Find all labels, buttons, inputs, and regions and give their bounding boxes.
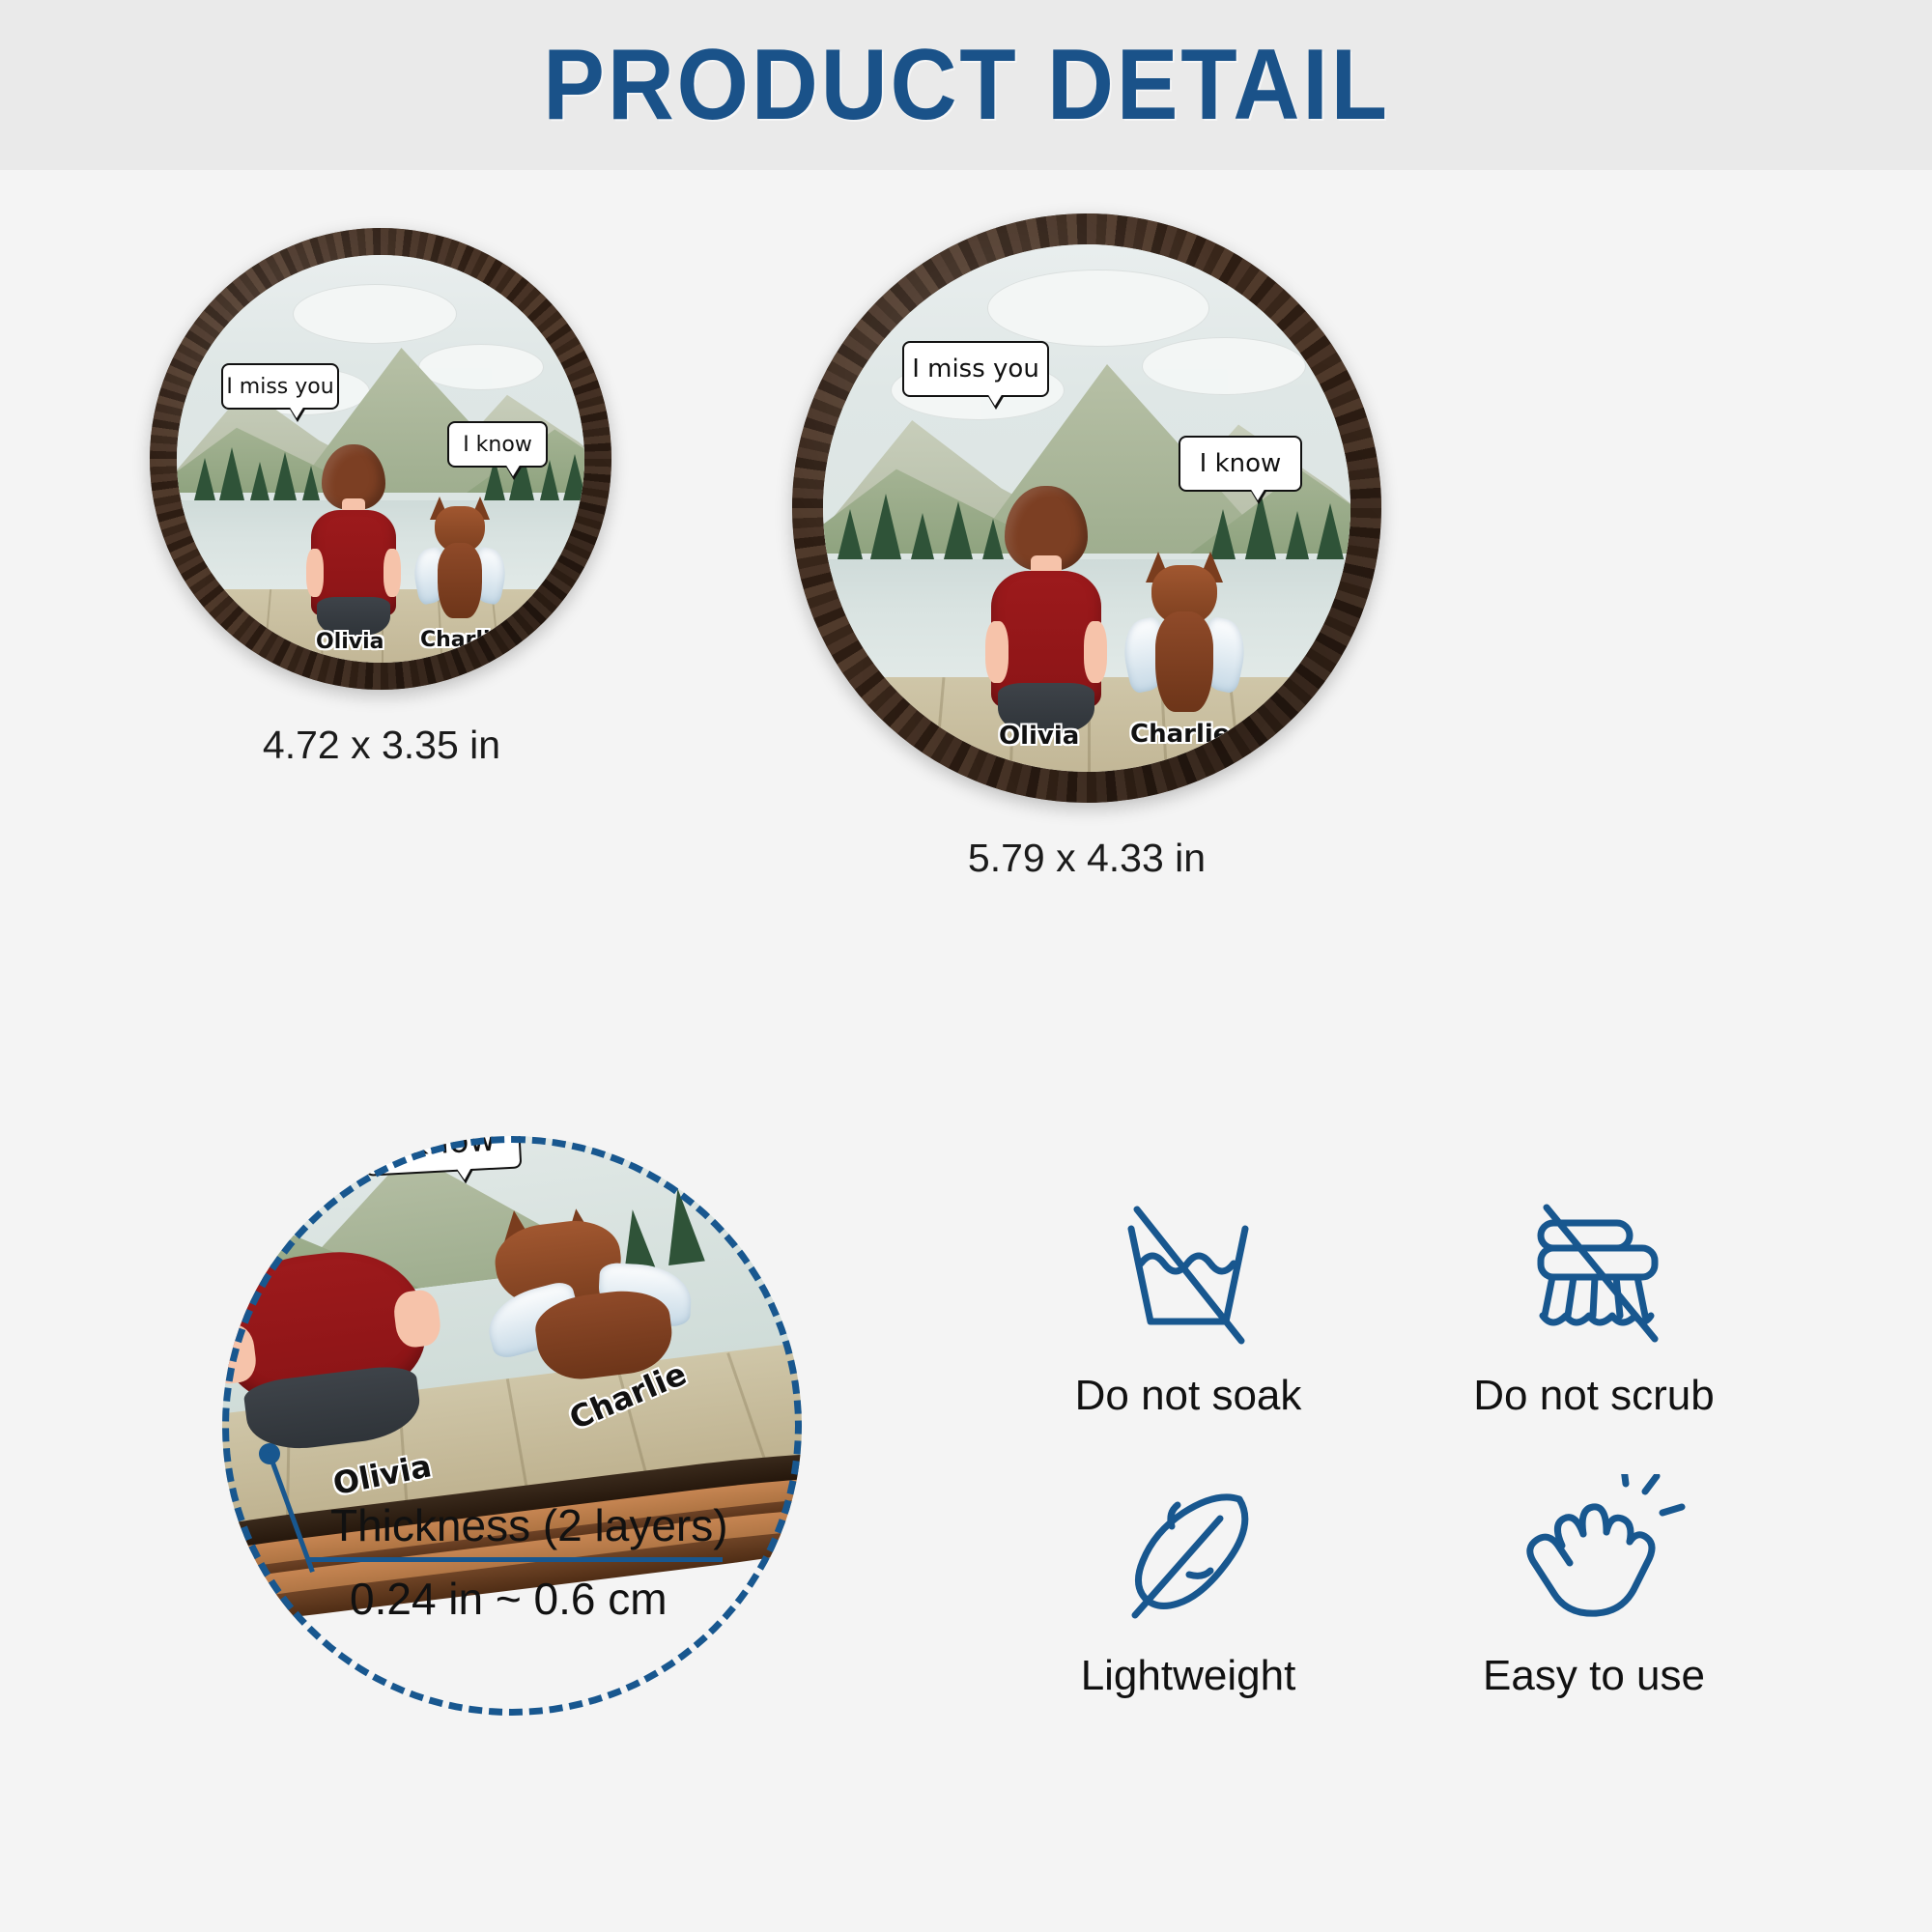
care-feature-do-not-scrub: Do not scrub: [1391, 1194, 1797, 1420]
cloud: [1142, 337, 1306, 395]
size-label-small: 4.72 x 3.35 in: [130, 723, 633, 768]
pine-tree: [1316, 503, 1345, 563]
person-arm-right: [384, 549, 401, 597]
care-feature-lightweight: Lightweight: [985, 1474, 1391, 1700]
dog-body: [438, 543, 482, 618]
care-features-grid: Do not soak Do not scrub: [985, 1194, 1855, 1735]
product-detail-page: PRODUCT DETAIL: [0, 0, 1932, 1932]
dock-plank: [859, 677, 879, 772]
thickness-callout: I know Olivia Charlie T: [203, 1126, 879, 1764]
scene-artwork: I miss you I know Olivia Charlie: [177, 255, 584, 663]
dock-plank: [1294, 678, 1317, 772]
pine-tree: [219, 447, 244, 500]
body-area: I miss you I know Olivia Charlie 4.72 x …: [0, 170, 1932, 1932]
care-label: Easy to use: [1391, 1652, 1797, 1700]
feather-icon: [1096, 1474, 1280, 1638]
pet-name-label: Charlie: [420, 628, 505, 652]
dock-plank: [543, 589, 559, 663]
pet-figure: [418, 495, 501, 618]
dog-body: [1155, 611, 1213, 712]
pine-tree: [910, 513, 935, 563]
bubble-text: I miss you: [226, 375, 333, 399]
care-label: Do not soak: [985, 1372, 1391, 1420]
bubble-i-know: I know: [447, 421, 548, 468]
thickness-magnifier-circle: [222, 1136, 802, 1716]
dock-plank: [205, 589, 219, 663]
dock-plank: [932, 677, 946, 772]
bubble-i-miss-you: I miss you: [221, 363, 339, 410]
pine-tree: [837, 509, 864, 563]
person-name-label: Olivia: [316, 630, 384, 654]
product-disc-large: I miss you I know Olivia Charlie: [792, 213, 1381, 803]
no-soak-icon: [1096, 1194, 1280, 1358]
page-title: PRODUCT DETAIL: [543, 28, 1390, 143]
cloud: [418, 344, 544, 390]
bubble-i-miss-you: I miss you: [902, 341, 1049, 397]
pet-figure: [1130, 550, 1238, 712]
bubble-text: I miss you: [912, 355, 1039, 384]
pine-tree: [273, 452, 297, 500]
person-arm-left: [306, 549, 324, 597]
product-large: I miss you I know Olivia Charlie 5.79 x …: [792, 213, 1410, 1015]
thickness-leader-horizontal: [309, 1557, 723, 1562]
pine-tree: [250, 462, 270, 500]
dock-plank: [262, 589, 271, 663]
header-band: PRODUCT DETAIL: [0, 0, 1932, 170]
person-figure: [300, 444, 407, 618]
thickness-label-line1: Thickness (2 layers): [330, 1499, 728, 1551]
scene-artwork: I miss you I know Olivia Charlie: [823, 244, 1350, 772]
product-disc-small: I miss you I know Olivia Charlie: [150, 228, 611, 690]
no-scrub-icon: [1502, 1194, 1686, 1358]
bubble-text: I know: [1200, 449, 1282, 478]
person-arm-left: [985, 621, 1009, 683]
pine-tree: [943, 501, 974, 563]
care-label: Do not scrub: [1391, 1372, 1797, 1420]
person-name-label: Olivia: [999, 722, 1079, 751]
cloud: [987, 270, 1209, 347]
bubble-text: I know: [463, 433, 532, 457]
care-label: Lightweight: [985, 1652, 1391, 1700]
care-feature-easy-to-use: Easy to use: [1391, 1474, 1797, 1700]
bubble-i-know: I know: [1179, 436, 1302, 492]
size-label-large: 5.79 x 4.33 in: [773, 836, 1401, 881]
pine-tree: [1285, 511, 1310, 563]
person-figure: [978, 486, 1115, 710]
pine-tree: [869, 494, 902, 563]
person-arm-right: [1084, 621, 1107, 683]
snap-fingers-icon: [1502, 1474, 1686, 1638]
pine-tree: [563, 454, 584, 500]
pet-name-label: Charlie: [1130, 720, 1230, 749]
thickness-label-line2: 0.24 in ~ 0.6 cm: [350, 1573, 668, 1625]
product-small: I miss you I know Olivia Charlie 4.72 x …: [150, 228, 633, 1001]
pine-tree: [194, 458, 215, 500]
care-feature-do-not-soak: Do not soak: [985, 1194, 1391, 1420]
cloud: [293, 284, 457, 344]
